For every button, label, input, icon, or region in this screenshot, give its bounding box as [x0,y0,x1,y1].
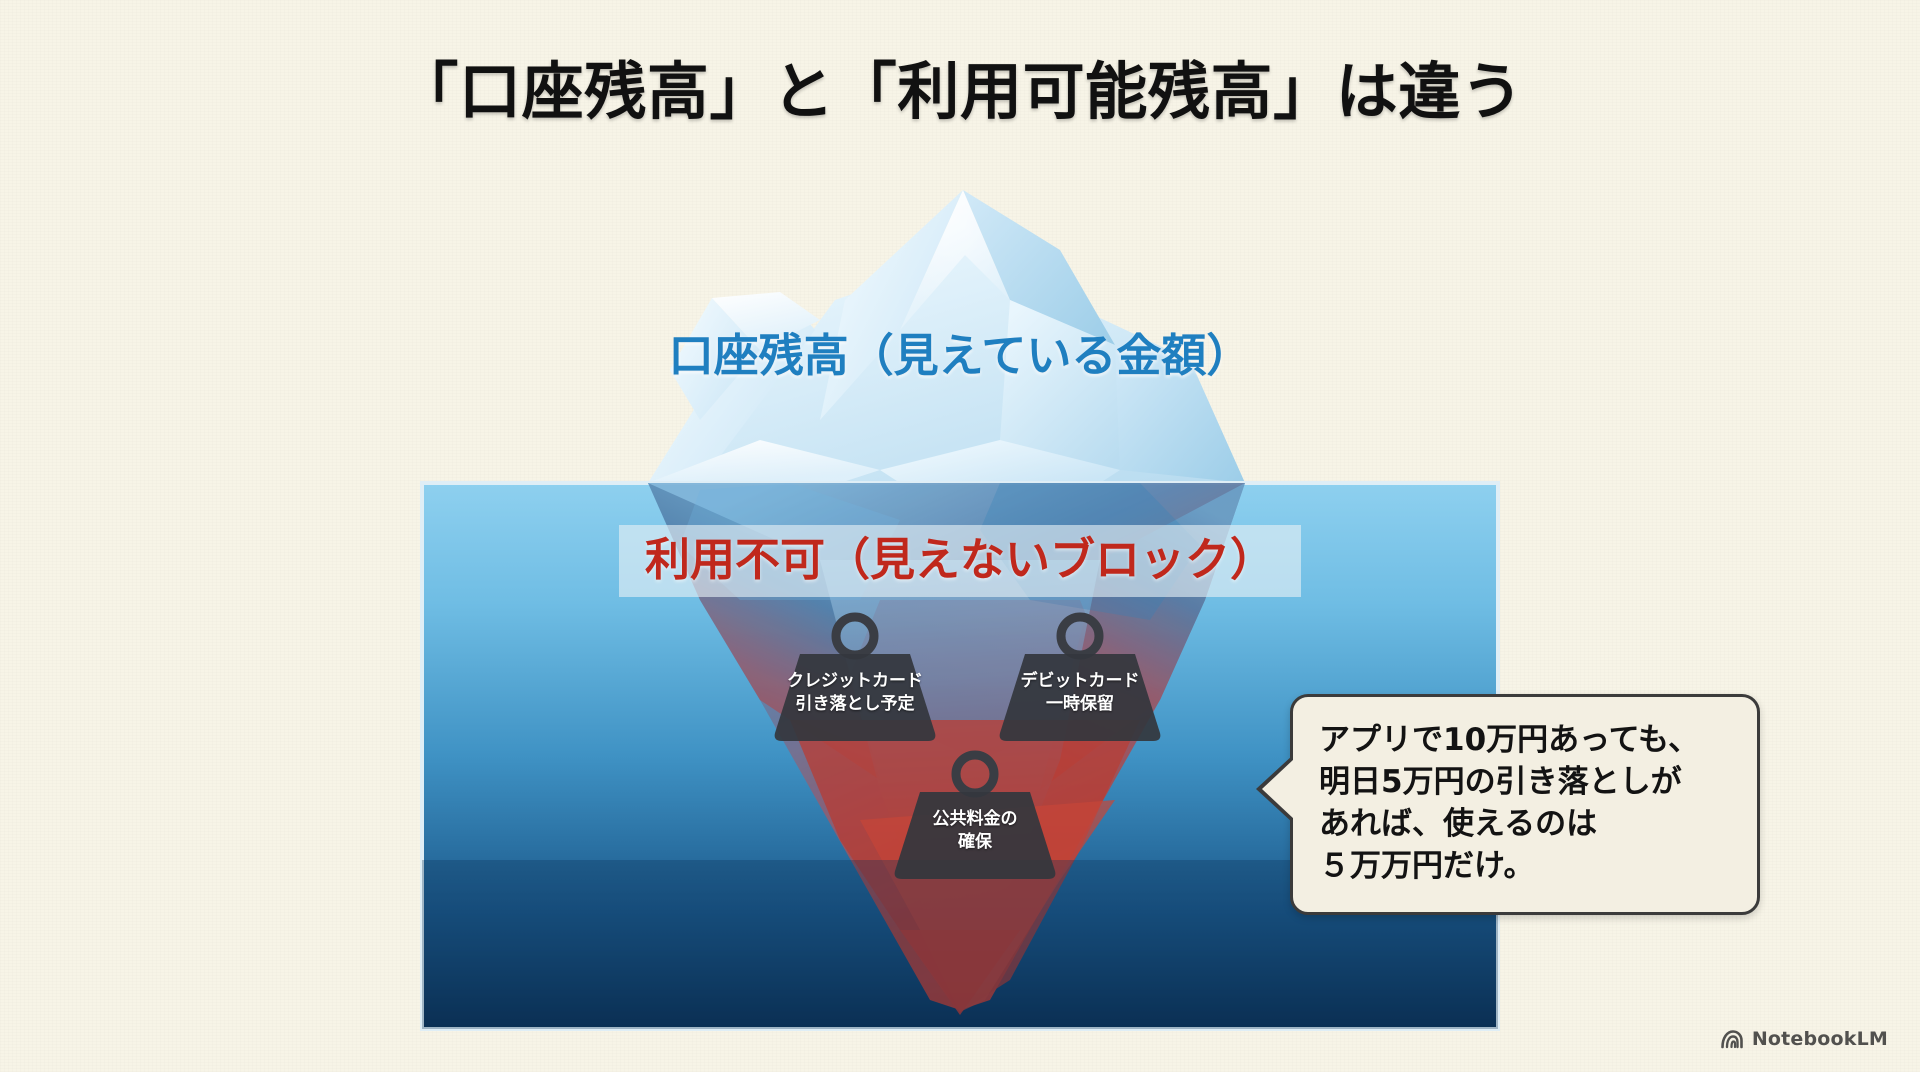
callout-speech-bubble: アプリで10万円あっても、 明日5万円の引き落としが あれば、使えるのは ５万万… [1290,694,1760,915]
weight-label-debit-card: デビットカード 一時保留 [985,670,1175,717]
weight-label-credit-card-line2: 引き落とし予定 [760,693,950,716]
page-title: 「口座残高」と「利用可能残高」は違う [0,56,1920,127]
weight-label-credit-card: クレジットカード 引き落とし予定 [760,670,950,717]
notebooklm-watermark-label: NotebookLM [1752,1028,1888,1050]
callout-text: アプリで10万円あっても、 明日5万円の引き落としが あれば、使えるのは ５万万… [1319,719,1731,888]
weight-label-debit-card-line1: デビットカード [985,670,1175,693]
weight-label-utility-bill: 公共料金の 確保 [880,808,1070,855]
notebooklm-watermark: NotebookLM [1720,1028,1888,1050]
notebooklm-logo-icon [1720,1029,1744,1049]
above-water-balance-label: 口座残高（見えている金額） [0,329,1920,383]
weight-label-debit-card-line2: 一時保留 [985,693,1175,716]
weight-label-utility-bill-line1: 公共料金の [880,808,1070,831]
speech-bubble-tail-fill [1262,759,1294,819]
weight-label-utility-bill-line2: 確保 [880,831,1070,854]
below-water-unavailable-label-text: 利用不可（見えないブロック） [619,525,1301,597]
below-water-unavailable-label: 利用不可（見えないブロック） [0,525,1920,597]
weight-label-credit-card-line1: クレジットカード [760,670,950,693]
